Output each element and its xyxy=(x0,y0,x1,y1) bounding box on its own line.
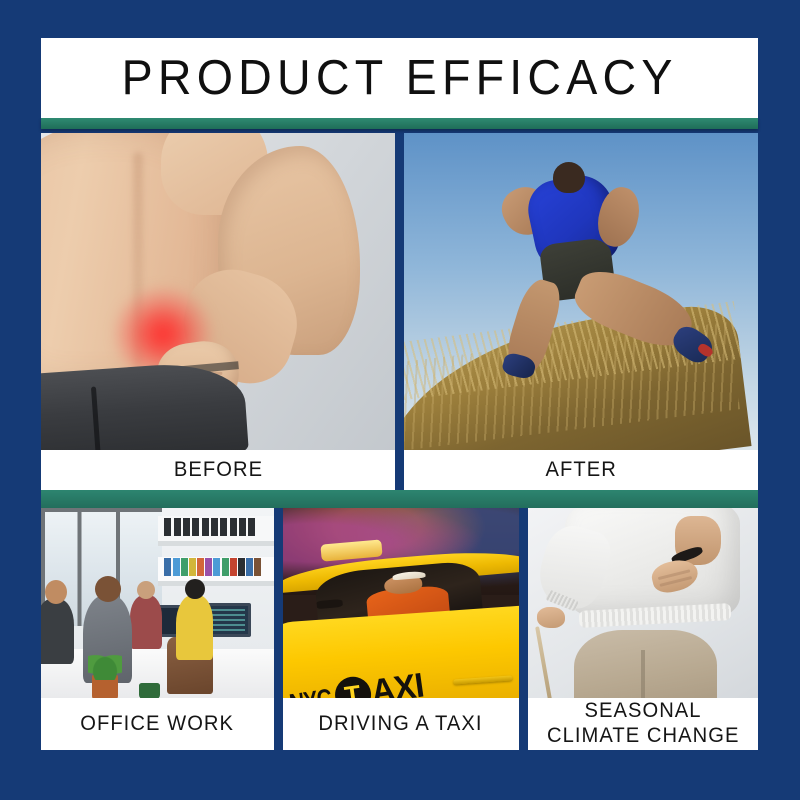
hand-on-cane xyxy=(537,607,565,628)
photo-office-work xyxy=(41,508,274,698)
photo-seasonal-climate xyxy=(528,508,758,698)
caption-office: OFFICE WORK xyxy=(41,698,274,750)
page-title: PRODUCT EFFICACY xyxy=(121,54,677,103)
taxi-logo-prefix: NYC xyxy=(287,682,333,698)
caption-after-label: AFTER xyxy=(545,458,616,483)
caption-seasonal-line1: SEASONAL xyxy=(584,699,701,724)
runner-head xyxy=(553,162,585,194)
caption-before: BEFORE xyxy=(41,450,395,490)
caption-seasonal-line2: CLIMATE CHANGE xyxy=(547,724,740,749)
worker-left xyxy=(41,599,74,664)
caption-office-label: OFFICE WORK xyxy=(81,712,235,737)
potted-plant xyxy=(92,675,118,698)
taxi-door-panel: NYC T AXI xyxy=(283,605,519,698)
cause-card-office: OFFICE WORK xyxy=(41,508,274,750)
walking-cane xyxy=(535,626,553,698)
taxi-medallion-icon: T xyxy=(332,675,373,698)
cause-row: OFFICE WORK NYC T xyxy=(41,508,758,750)
title-banner: PRODUCT EFFICACY xyxy=(41,38,758,118)
hillside-shape xyxy=(404,301,751,450)
title-accent-bar xyxy=(41,118,758,129)
desk-cup xyxy=(139,683,160,698)
shelf-lower xyxy=(158,557,275,586)
cause-card-seasonal: SEASONAL CLIMATE CHANGE xyxy=(528,508,758,750)
photo-driving-taxi: NYC T AXI xyxy=(283,508,519,698)
caption-after: AFTER xyxy=(404,450,758,490)
side-mirror xyxy=(316,598,343,609)
cause-card-taxi: NYC T AXI DRIVING A TAXI xyxy=(283,508,519,750)
row-divider xyxy=(41,490,758,508)
caption-taxi-label: DRIVING A TAXI xyxy=(319,712,483,737)
shelf-upper xyxy=(158,516,275,546)
poster-root: PRODUCT EFFICACY BEFORE xyxy=(0,0,800,800)
taxi-logo-suffix: AXI xyxy=(369,666,426,698)
caption-taxi: DRIVING A TAXI xyxy=(283,698,519,750)
door-handle xyxy=(453,676,512,685)
photo-after-runner xyxy=(404,133,758,450)
caption-seasonal: SEASONAL CLIMATE CHANGE xyxy=(528,698,758,750)
nyc-taxi-logo: NYC T AXI xyxy=(285,666,426,698)
caption-before-label: BEFORE xyxy=(173,458,262,483)
worker-background xyxy=(130,595,163,648)
senior-trousers xyxy=(574,630,717,698)
photo-before-back-pain xyxy=(41,133,395,450)
comparison-card-before: BEFORE xyxy=(41,133,395,490)
comparison-row: BEFORE AFTER xyxy=(41,133,758,490)
comparison-card-after: AFTER xyxy=(404,133,758,490)
worker-yellow-top xyxy=(176,595,213,660)
